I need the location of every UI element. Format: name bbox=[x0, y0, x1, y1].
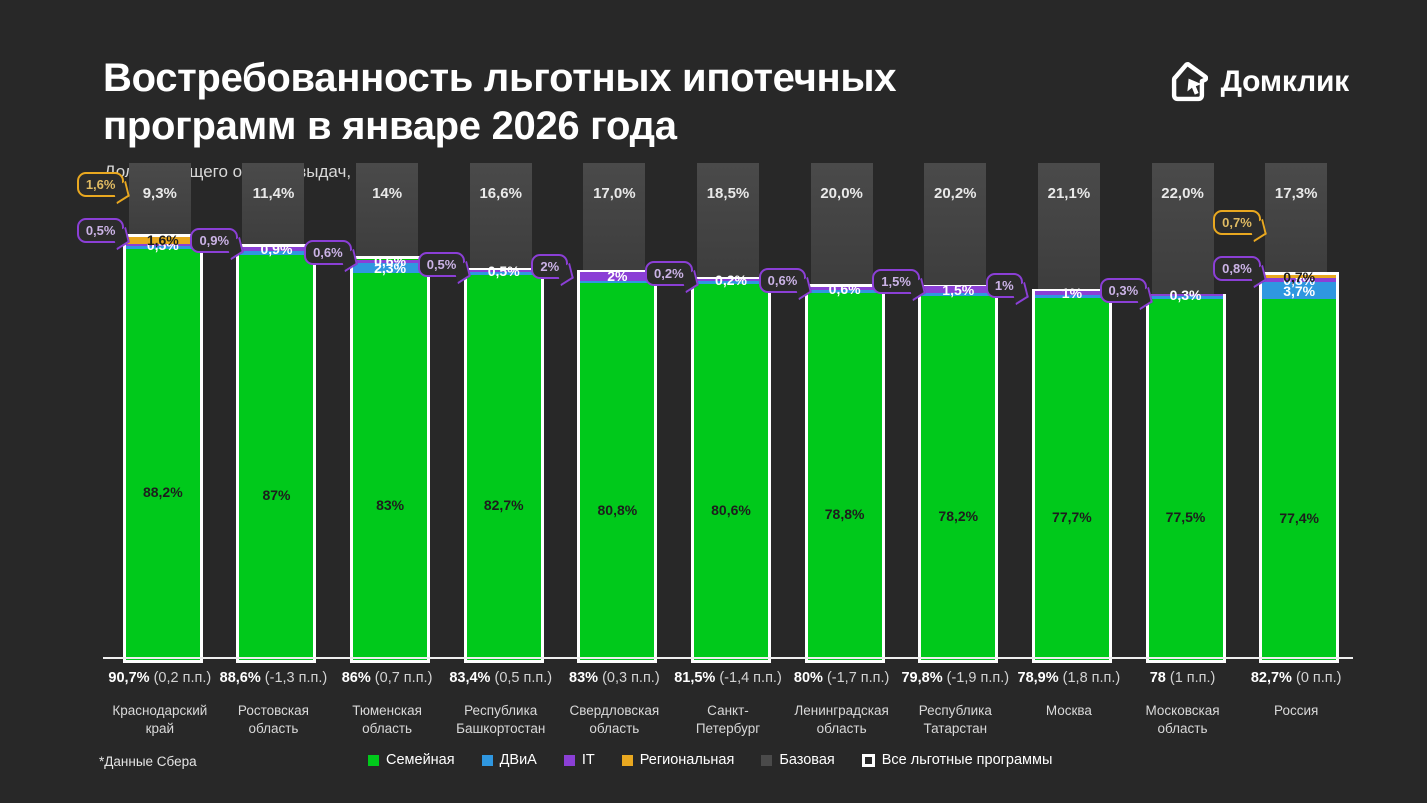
callout-it: 2% bbox=[531, 254, 568, 279]
x-axis-tick: 90,7% (0,2 п.п.)Краснодарский край bbox=[103, 670, 217, 738]
callout-tail bbox=[557, 263, 574, 286]
tick-total-delta: (0 п.п.) bbox=[1296, 670, 1342, 686]
tick-total-value: 78 (1 п.п.) bbox=[1126, 670, 1240, 686]
callout-value: 1,5% bbox=[881, 274, 911, 289]
bar-label-family: 78,2% bbox=[921, 508, 995, 524]
tick-total-value: 80% (-1,7 п.п.) bbox=[785, 670, 899, 686]
bar-segment-family bbox=[353, 273, 427, 660]
tick-category-label: Республика Татарстан bbox=[898, 702, 1012, 738]
bar-label-family: 77,7% bbox=[1035, 509, 1109, 525]
bar-label-it: 0,6% bbox=[353, 253, 427, 269]
bar-label-base: 20,2% bbox=[924, 185, 986, 202]
legend-label: Региональная bbox=[640, 752, 735, 768]
tick-total-delta: (1 п.п.) bbox=[1170, 670, 1216, 686]
bar-label-family: 87% bbox=[239, 487, 313, 503]
tick-category-label: Тюменская область bbox=[330, 702, 444, 738]
bar-label-family: 83% bbox=[353, 497, 427, 513]
tick-total-number: 83,4% bbox=[449, 670, 490, 686]
bar-stack-all-programs: 88,2%0,5%1,6% bbox=[123, 234, 203, 663]
bar-label-base: 17,0% bbox=[583, 185, 645, 202]
stacked-bar-chart: 9,3%88,2%0,5%1,6%1,6%0,5%90,7% (0,2 п.п.… bbox=[0, 0, 1427, 803]
bar-label-family: 80,8% bbox=[580, 502, 654, 518]
chart-legend: СемейнаяДВиАITРегиональнаяБазоваяВсе льг… bbox=[368, 752, 1052, 768]
callout-it: 0,6% bbox=[759, 268, 807, 293]
callout-value: 0,8% bbox=[1222, 261, 1252, 276]
tick-category-label: Московская область bbox=[1126, 702, 1240, 738]
tick-category-label: Ленинградская область bbox=[785, 702, 899, 738]
legend-item-dvia[interactable]: ДВиА bbox=[482, 752, 537, 768]
x-axis-tick: 81,5% (-1,4 п.п.)Санкт- Петербург bbox=[671, 670, 785, 738]
callout-it: 1,5% bbox=[872, 269, 920, 294]
bar-segment-family bbox=[580, 283, 654, 660]
tick-total-delta: (-1,3 п.п.) bbox=[265, 670, 327, 686]
x-axis-tick: 82,7% (0 п.п.)Россия bbox=[1239, 670, 1353, 720]
tick-total-value: 78,9% (1,8 п.п.) bbox=[1012, 670, 1126, 686]
footnote: *Данные Сбера bbox=[99, 754, 197, 769]
tick-total-value: 83% (0,3 п.п.) bbox=[558, 670, 672, 686]
callout-value: 2% bbox=[540, 259, 559, 274]
legend-label: Все льготные программы bbox=[882, 752, 1053, 768]
legend-item-all[interactable]: Все льготные программы bbox=[862, 752, 1053, 768]
x-axis-tick: 86% (0,7 п.п.)Тюменская область bbox=[330, 670, 444, 738]
callout-value: 0,3% bbox=[1109, 283, 1139, 298]
tick-total-number: 81,5% bbox=[674, 670, 715, 686]
legend-item-family[interactable]: Семейная bbox=[368, 752, 455, 768]
x-axis-tick: 78 (1 п.п.)Московская область bbox=[1126, 670, 1240, 738]
legend-item-it[interactable]: IT bbox=[564, 752, 595, 768]
callout-it: 0,6% bbox=[304, 240, 352, 265]
bar-segment-base bbox=[470, 163, 532, 272]
bar-label-it: 1% bbox=[1035, 285, 1109, 301]
bar-label-base: 9,3% bbox=[129, 185, 191, 202]
bar-segment-family bbox=[808, 293, 882, 660]
bar-segment-base bbox=[811, 163, 873, 288]
tick-category-label: Республика Башкортостан bbox=[444, 702, 558, 738]
bar-label-family: 88,2% bbox=[126, 484, 200, 500]
tick-category-label: Ростовская область bbox=[217, 702, 331, 738]
tick-total-value: 83,4% (0,5 п.п.) bbox=[444, 670, 558, 686]
bar-stack-all-programs: 78,2%1,5% bbox=[918, 285, 998, 663]
callout-it: 0,5% bbox=[418, 252, 466, 277]
bar-label-it: 0,5% bbox=[467, 263, 541, 279]
tick-total-number: 78 bbox=[1150, 670, 1166, 686]
callout-it: 0,2% bbox=[645, 261, 693, 286]
bar-label-it: 0,6% bbox=[808, 281, 882, 297]
bar-label-regional: 0,7% bbox=[1262, 269, 1336, 285]
bar-segment-family bbox=[467, 275, 541, 660]
bar-segment-base bbox=[924, 163, 986, 289]
bar-label-family: 77,4% bbox=[1262, 510, 1336, 526]
callout-value: 0,7% bbox=[1222, 215, 1252, 230]
bar-label-it: 2% bbox=[580, 268, 654, 284]
tick-total-number: 78,9% bbox=[1018, 670, 1059, 686]
tick-total-value: 88,6% (-1,3 п.п.) bbox=[217, 670, 331, 686]
bar-label-it: 1,5% bbox=[921, 282, 995, 298]
bar-stack-all-programs: 82,7%0,5% bbox=[464, 268, 544, 663]
bar-stack-all-programs: 77,4%3,7%0,8%0,7% bbox=[1259, 272, 1339, 663]
callout-value: 0,6% bbox=[313, 245, 343, 260]
callout-value: 0,5% bbox=[427, 257, 457, 272]
bar-label-base: 17,3% bbox=[1265, 185, 1327, 202]
tick-total-number: 83% bbox=[569, 670, 598, 686]
bar-segment-family bbox=[694, 284, 768, 660]
bar-label-it: 0,9% bbox=[239, 241, 313, 257]
bar-stack-all-programs: 77,5%0,3% bbox=[1146, 294, 1226, 663]
tick-total-number: 79,8% bbox=[901, 670, 942, 686]
bar-label-base: 11,4% bbox=[242, 185, 304, 202]
bar-segment-base bbox=[583, 163, 645, 274]
bar-segment-family bbox=[1149, 299, 1223, 660]
x-axis-tick: 78,9% (1,8 п.п.)Москва bbox=[1012, 670, 1126, 720]
tick-total-number: 88,6% bbox=[220, 670, 261, 686]
callout-value: 1,6% bbox=[86, 177, 116, 192]
legend-swatch-base-icon bbox=[761, 755, 772, 766]
tick-total-value: 81,5% (-1,4 п.п.) bbox=[671, 670, 785, 686]
tick-total-delta: (1,8 п.п.) bbox=[1063, 670, 1121, 686]
bar-label-base: 22,0% bbox=[1152, 185, 1214, 202]
bar-segment-base bbox=[1152, 163, 1214, 298]
legend-swatch-outline-icon bbox=[862, 754, 875, 767]
callout-it: 0,9% bbox=[190, 228, 238, 253]
callout-it: 0,3% bbox=[1100, 278, 1148, 303]
legend-swatch-it-icon bbox=[564, 755, 575, 766]
tick-total-value: 90,7% (0,2 п.п.) bbox=[103, 670, 217, 686]
bar-segment-base bbox=[697, 163, 759, 281]
x-axis-tick: 80% (-1,7 п.п.)Ленинградская область bbox=[785, 670, 899, 738]
callout-value: 0,9% bbox=[199, 233, 229, 248]
tick-category-label: Свердловская область bbox=[558, 702, 672, 738]
tick-total-number: 86% bbox=[342, 670, 371, 686]
bar-segment-family bbox=[1262, 299, 1336, 660]
bar-label-base: 18,5% bbox=[697, 185, 759, 202]
tick-total-delta: (0,7 п.п.) bbox=[375, 670, 433, 686]
tick-category-label: Россия bbox=[1239, 702, 1353, 720]
bar-segment-family bbox=[239, 255, 313, 660]
bar-segment-family bbox=[921, 296, 995, 660]
tick-total-value: 79,8% (-1,9 п.п.) bbox=[898, 670, 1012, 686]
callout-tail bbox=[1250, 218, 1267, 241]
bar-segment-base bbox=[356, 163, 418, 260]
tick-category-label: Краснодарский край bbox=[103, 702, 217, 738]
bar-stack-all-programs: 80,6%0,2% bbox=[691, 277, 771, 663]
tick-total-delta: (0,3 п.п.) bbox=[602, 670, 660, 686]
x-axis-tick: 83,4% (0,5 п.п.)Республика Башкортостан bbox=[444, 670, 558, 738]
bar-label-regional: 1,6% bbox=[126, 232, 200, 248]
bar-stack-all-programs: 80,8%2% bbox=[577, 270, 657, 663]
bar-stack-all-programs: 87%0,9% bbox=[236, 244, 316, 663]
callout-regional: 0,7% bbox=[1213, 210, 1261, 235]
tick-total-delta: (-1,4 п.п.) bbox=[719, 670, 781, 686]
x-axis-tick: 88,6% (-1,3 п.п.)Ростовская область bbox=[217, 670, 331, 738]
legend-label: Базовая bbox=[779, 752, 834, 768]
callout-tail bbox=[114, 181, 131, 204]
bar-label-base: 16,6% bbox=[470, 185, 532, 202]
legend-swatch-dvia-icon bbox=[482, 755, 493, 766]
callout-value: 1% bbox=[995, 278, 1014, 293]
bar-stack-all-programs: 78,8%0,6% bbox=[805, 284, 885, 663]
tick-total-value: 82,7% (0 п.п.) bbox=[1239, 670, 1353, 686]
tick-total-delta: (-1,7 п.п.) bbox=[827, 670, 889, 686]
legend-swatch-regional-icon bbox=[622, 755, 633, 766]
bar-stack-all-programs: 83%2,3%0,6% bbox=[350, 256, 430, 663]
tick-total-number: 90,7% bbox=[108, 670, 149, 686]
axis-baseline bbox=[103, 657, 1353, 659]
bar-label-family: 77,5% bbox=[1149, 509, 1223, 525]
callout-value: 0,2% bbox=[654, 266, 684, 281]
bar-segment-family bbox=[1035, 298, 1109, 660]
bar-label-it: 0,2% bbox=[694, 272, 768, 288]
x-axis-tick: 79,8% (-1,9 п.п.)Республика Татарстан bbox=[898, 670, 1012, 738]
callout-it: 1% bbox=[986, 273, 1023, 298]
bar-segment-family bbox=[126, 249, 200, 660]
bar-label-it: 0,3% bbox=[1149, 287, 1223, 303]
callout-regional: 1,6% bbox=[77, 172, 125, 197]
callout-value: 0,6% bbox=[768, 273, 798, 288]
legend-swatch-family-icon bbox=[368, 755, 379, 766]
callout-it: 0,5% bbox=[77, 218, 125, 243]
x-axis-tick: 83% (0,3 п.п.)Свердловская область bbox=[558, 670, 672, 738]
bar-label-base: 14% bbox=[356, 185, 418, 202]
tick-total-number: 82,7% bbox=[1251, 670, 1292, 686]
callout-it: 0,8% bbox=[1213, 256, 1261, 281]
legend-label: Семейная bbox=[386, 752, 455, 768]
tick-total-number: 80% bbox=[794, 670, 823, 686]
tick-category-label: Москва bbox=[1012, 702, 1126, 720]
tick-category-label: Санкт- Петербург bbox=[671, 702, 785, 738]
bar-segment-base bbox=[1038, 163, 1100, 293]
legend-item-base[interactable]: Базовая bbox=[761, 752, 834, 768]
bar-label-family: 80,6% bbox=[694, 502, 768, 518]
bar-stack-all-programs: 77,7%1% bbox=[1032, 289, 1112, 663]
tick-total-delta: (-1,9 п.п.) bbox=[947, 670, 1009, 686]
bar-label-base: 20,0% bbox=[811, 185, 873, 202]
tick-total-delta: (0,2 п.п.) bbox=[154, 670, 212, 686]
callout-value: 0,5% bbox=[86, 223, 116, 238]
legend-label: IT bbox=[582, 752, 595, 768]
tick-total-value: 86% (0,7 п.п.) bbox=[330, 670, 444, 686]
bar-label-family: 78,8% bbox=[808, 506, 882, 522]
tick-total-delta: (0,5 п.п.) bbox=[494, 670, 552, 686]
callout-tail bbox=[1012, 282, 1029, 305]
bar-label-base: 21,1% bbox=[1038, 185, 1100, 202]
bar-segment-base bbox=[242, 163, 304, 248]
legend-item-regional[interactable]: Региональная bbox=[622, 752, 735, 768]
legend-label: ДВиА bbox=[500, 752, 537, 768]
bar-segment-base bbox=[1265, 163, 1327, 276]
bar-label-family: 82,7% bbox=[467, 497, 541, 513]
